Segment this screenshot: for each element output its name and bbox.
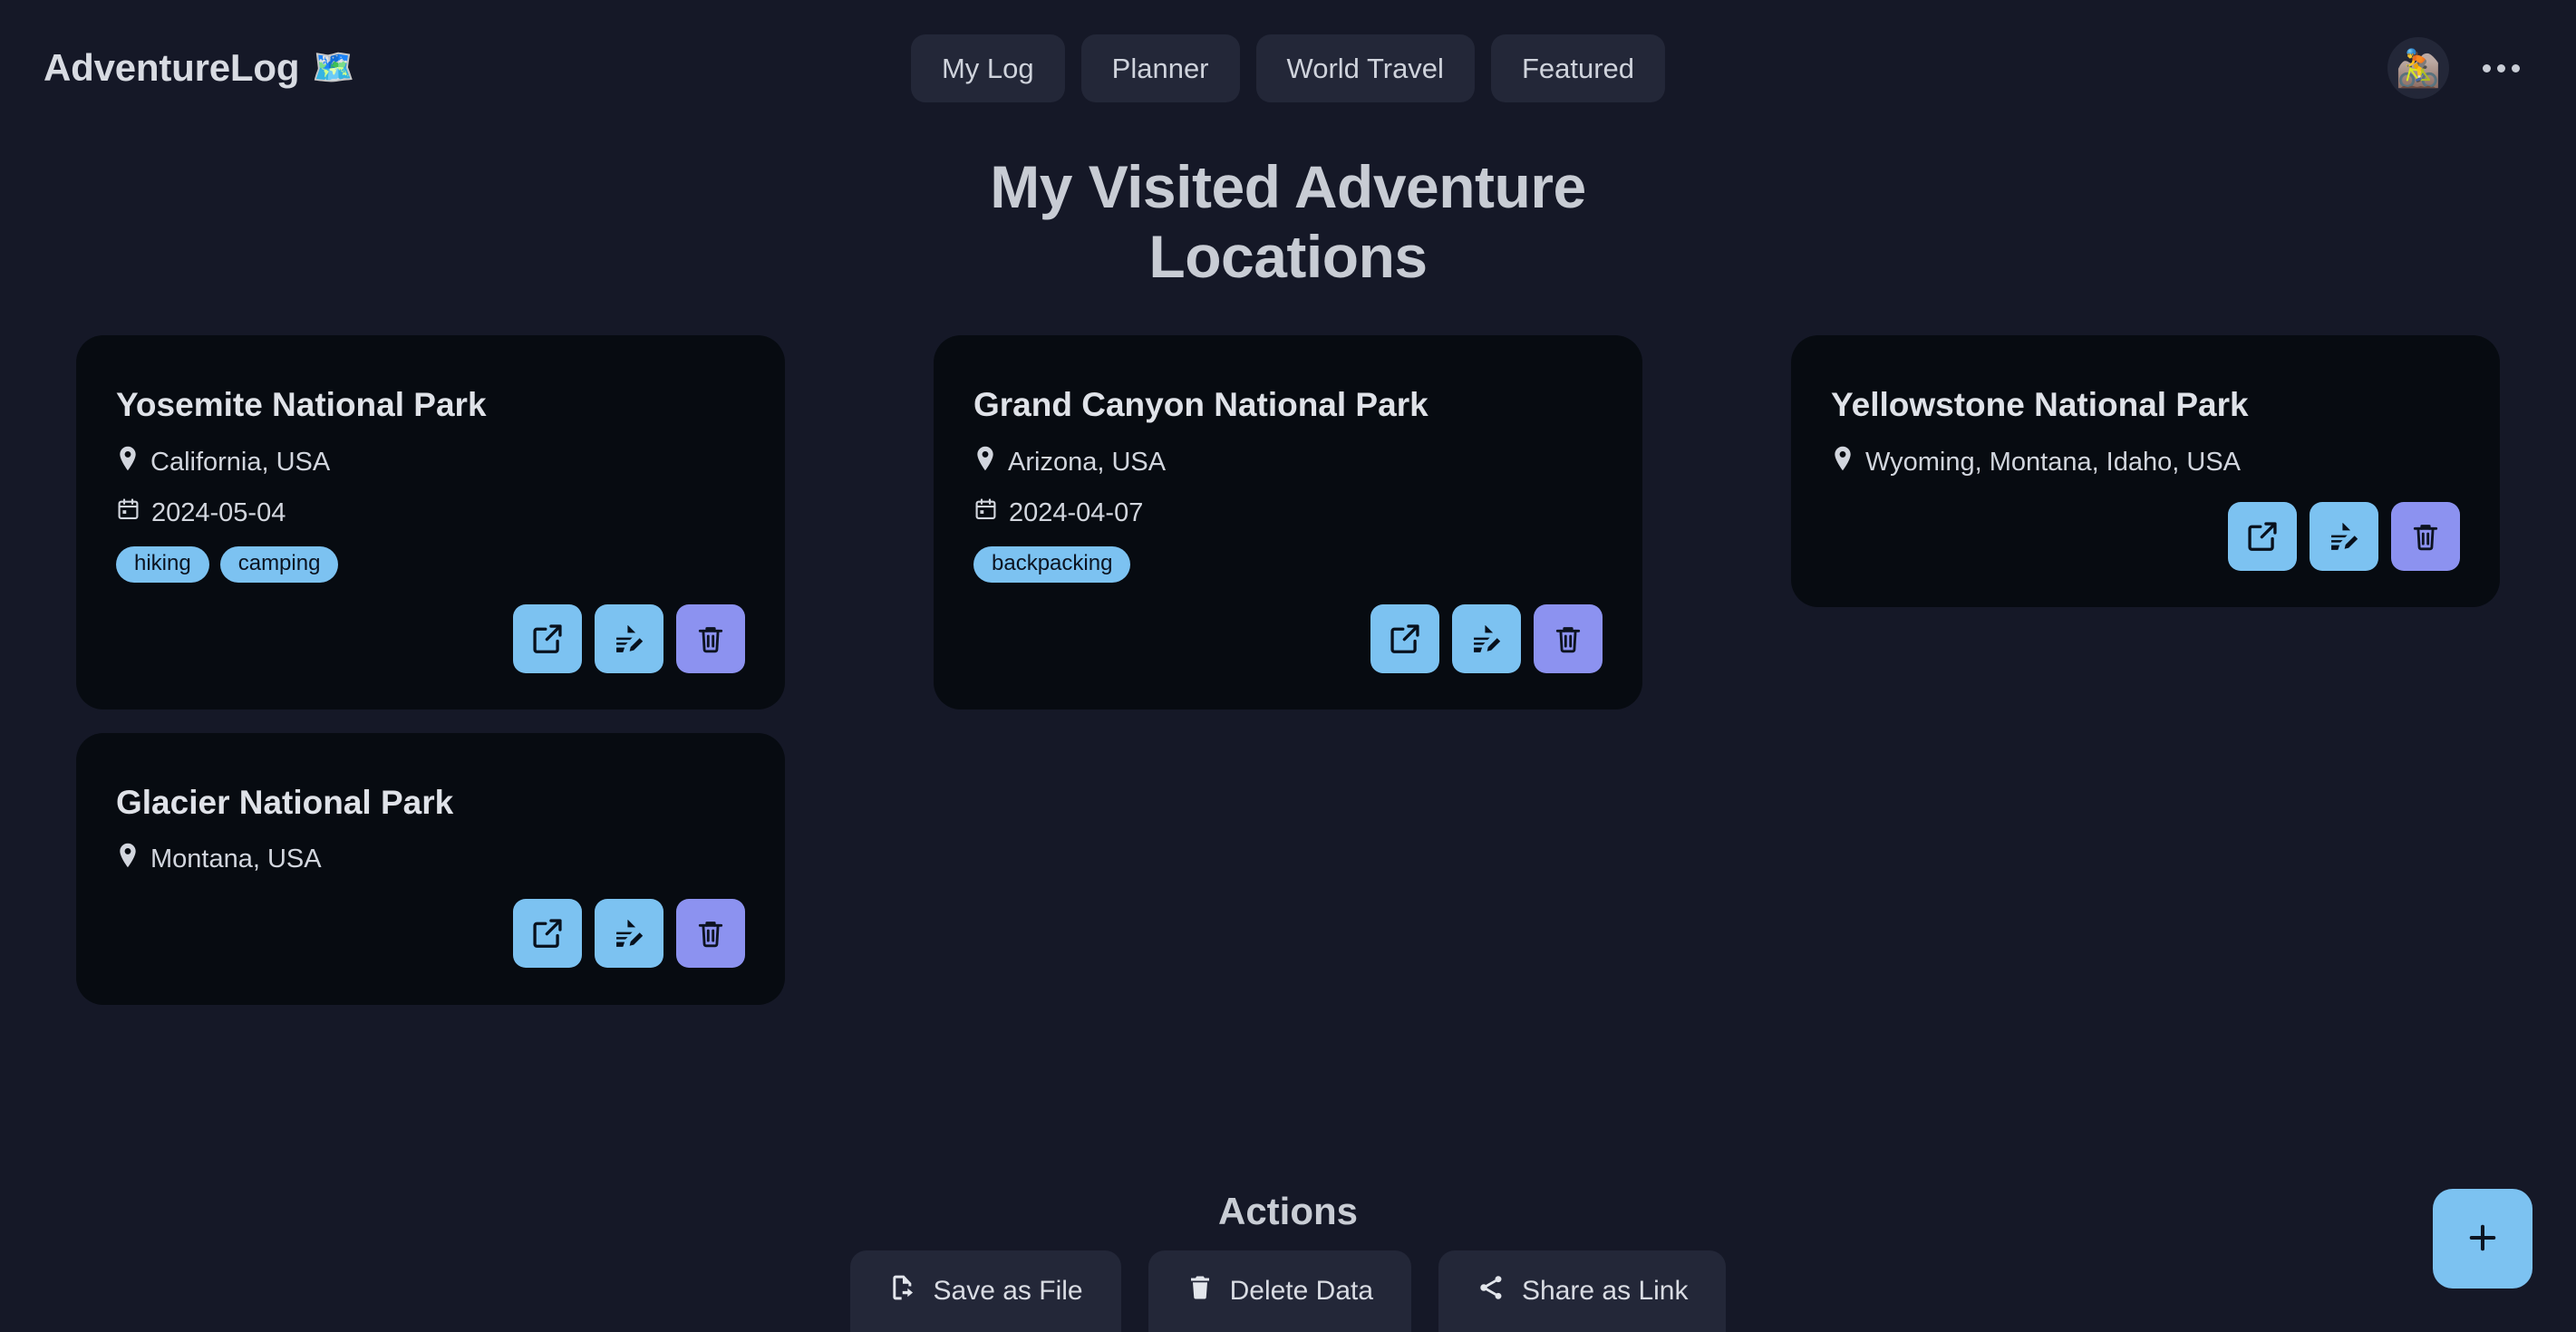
external-link-icon: [530, 916, 565, 951]
external-link-icon: [530, 622, 565, 656]
map-pin-icon: [973, 445, 997, 480]
share-as-link-label: Share as Link: [1522, 1276, 1688, 1307]
more-menu-button[interactable]: [2469, 36, 2532, 100]
card-date: 2024-05-04: [116, 497, 745, 530]
map-pin-icon: [116, 842, 140, 877]
plus-icon: [2464, 1219, 2502, 1260]
ellipsis-icon: [2512, 64, 2520, 72]
save-as-file-button[interactable]: Save as File: [850, 1250, 1121, 1332]
nav-tabs: My Log Planner World Travel Featured: [911, 34, 1665, 102]
ellipsis-icon: [2483, 64, 2491, 72]
card-location-label: California, USA: [150, 447, 330, 478]
file-export-icon: [888, 1273, 917, 1309]
card-tags: backpacking: [973, 546, 1603, 583]
calendar-icon: [973, 497, 998, 530]
calendar-icon: [116, 497, 140, 530]
open-link-button[interactable]: [1370, 604, 1439, 673]
card-action-buttons: [116, 899, 745, 968]
edit-button[interactable]: [2310, 502, 2378, 571]
adventure-card: Yosemite National ParkCalifornia, USA202…: [76, 335, 785, 709]
card-action-buttons: [1831, 502, 2460, 571]
navbar-right: 🚵: [2387, 36, 2532, 100]
avatar[interactable]: 🚵: [2387, 37, 2449, 99]
map-pin-icon: [1831, 445, 1855, 480]
trash-icon: [1186, 1274, 1214, 1308]
delete-button[interactable]: [676, 899, 745, 968]
card-title: Glacier National Park: [116, 784, 745, 823]
tag-badge[interactable]: hiking: [116, 546, 209, 583]
tab-planner[interactable]: Planner: [1081, 34, 1240, 102]
trash-icon: [694, 917, 727, 950]
card-title: Yosemite National Park: [116, 386, 745, 425]
brand-logo[interactable]: AdventureLog 🗺️: [44, 46, 354, 90]
tab-featured[interactable]: Featured: [1491, 34, 1665, 102]
tab-my-log[interactable]: My Log: [911, 34, 1065, 102]
delete-button[interactable]: [676, 604, 745, 673]
actions-section: Actions Save as File Delete Data: [0, 1192, 2576, 1332]
actions-title: Actions: [0, 1192, 2576, 1231]
card-date-label: 2024-04-07: [1009, 497, 1143, 529]
card-tags: hikingcamping: [116, 546, 745, 583]
open-link-button[interactable]: [513, 899, 582, 968]
share-nodes-icon: [1477, 1273, 1506, 1309]
adventure-card: Grand Canyon National ParkArizona, USA20…: [934, 335, 1642, 709]
brand-name: AdventureLog: [44, 46, 299, 90]
delete-button[interactable]: [1534, 604, 1603, 673]
card-location-label: Montana, USA: [150, 844, 322, 875]
edit-button[interactable]: [595, 899, 663, 968]
world-map-emoji-icon: 🗺️: [312, 51, 354, 85]
tag-badge[interactable]: backpacking: [973, 546, 1130, 583]
ellipsis-icon: [2497, 64, 2505, 72]
file-pen-icon: [612, 916, 646, 951]
trash-icon: [694, 623, 727, 655]
save-as-file-label: Save as File: [934, 1276, 1083, 1307]
adventure-card: Glacier National ParkMontana, USA: [76, 733, 785, 1005]
card-location-label: Arizona, USA: [1008, 447, 1166, 478]
trash-icon: [1552, 623, 1584, 655]
card-title: Yellowstone National Park: [1831, 386, 2460, 425]
delete-button[interactable]: [2391, 502, 2460, 571]
tag-badge[interactable]: camping: [220, 546, 339, 583]
open-link-button[interactable]: [2228, 502, 2297, 571]
card-action-buttons: [116, 604, 745, 673]
open-link-button[interactable]: [513, 604, 582, 673]
page-title: My Visited Adventure Locations: [935, 152, 1641, 292]
file-pen-icon: [612, 622, 646, 656]
share-as-link-button[interactable]: Share as Link: [1438, 1250, 1726, 1332]
edit-button[interactable]: [595, 604, 663, 673]
card-date: 2024-04-07: [973, 497, 1603, 530]
trash-icon: [2409, 520, 2442, 553]
mountain-biker-emoji-icon: 🚵: [2396, 47, 2441, 90]
card-location-label: Wyoming, Montana, Idaho, USA: [1865, 447, 2241, 478]
add-adventure-fab[interactable]: [2433, 1189, 2532, 1289]
external-link-icon: [2245, 519, 2280, 554]
card-location: California, USA: [116, 445, 745, 480]
map-pin-icon: [116, 445, 140, 480]
card-title: Grand Canyon National Park: [973, 386, 1603, 425]
adventure-cards-grid: Yosemite National ParkCalifornia, USA202…: [76, 335, 2500, 1004]
file-pen-icon: [2327, 519, 2361, 554]
card-location: Montana, USA: [116, 842, 745, 877]
card-date-label: 2024-05-04: [151, 497, 286, 529]
card-action-buttons: [973, 604, 1603, 673]
actions-row: Save as File Delete Data: [0, 1250, 2576, 1332]
adventure-card: Yellowstone National ParkWyoming, Montan…: [1791, 335, 2500, 607]
card-location: Arizona, USA: [973, 445, 1603, 480]
external-link-icon: [1388, 622, 1422, 656]
delete-data-button[interactable]: Delete Data: [1148, 1250, 1411, 1332]
tab-world-travel[interactable]: World Travel: [1256, 34, 1475, 102]
delete-data-label: Delete Data: [1230, 1276, 1373, 1307]
card-location: Wyoming, Montana, Idaho, USA: [1831, 445, 2460, 480]
edit-button[interactable]: [1452, 604, 1521, 673]
file-pen-icon: [1469, 622, 1504, 656]
navbar: AdventureLog 🗺️ My Log Planner World Tra…: [0, 0, 2576, 136]
